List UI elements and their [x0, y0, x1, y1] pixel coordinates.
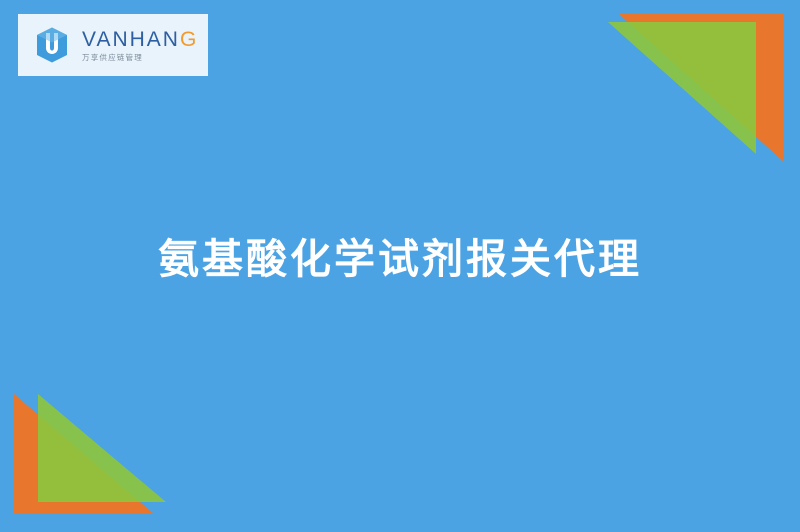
logo-text-block: VANHANG 万享供应链管理 — [82, 29, 198, 62]
logo: VANHANG 万享供应链管理 — [18, 14, 208, 76]
logo-name: VANHANG — [82, 29, 198, 50]
page-title: 氨基酸化学试剂报关代理 — [0, 235, 800, 284]
top-right-green-triangle-icon — [608, 22, 756, 154]
logo-subtitle: 万享供应链管理 — [82, 54, 198, 62]
cube-logo-icon — [30, 23, 74, 67]
slide-canvas: VANHANG 万享供应链管理 氨基酸化学试剂报关代理 — [0, 0, 800, 532]
bottom-left-green-triangle-icon — [38, 394, 166, 502]
